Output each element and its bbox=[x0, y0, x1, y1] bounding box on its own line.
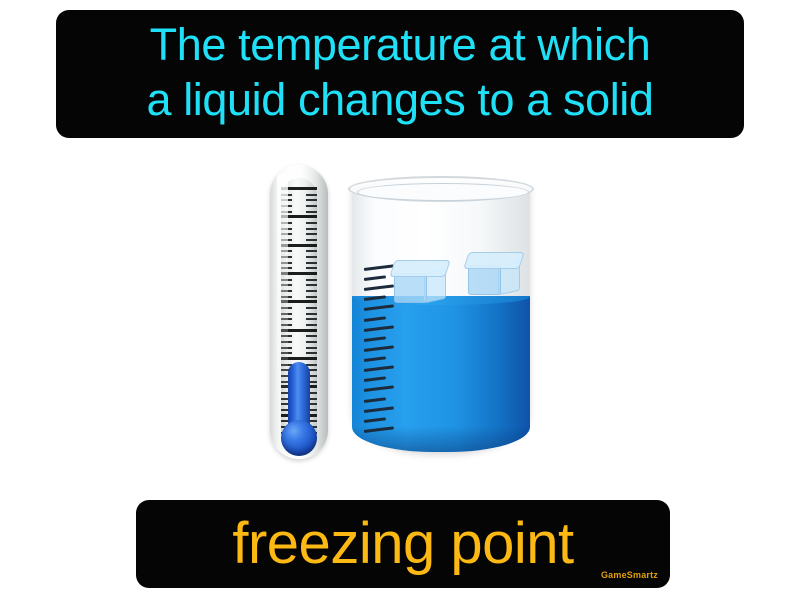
thermometer-minor-tick bbox=[281, 347, 292, 349]
thermometer-major-tick bbox=[281, 187, 317, 190]
thermometer-minor-tick bbox=[281, 307, 292, 309]
thermometer-minor-tick bbox=[281, 194, 292, 196]
thermometer-minor-tick bbox=[281, 341, 292, 343]
thermometer-minor-tick bbox=[281, 239, 292, 241]
thermometer-minor-tick bbox=[281, 233, 292, 235]
thermometer-minor-tick bbox=[281, 262, 292, 264]
thermometer-minor-tick bbox=[281, 318, 292, 320]
definition-card: The temperature at which a liquid change… bbox=[56, 10, 744, 138]
thermometer-minor-tick bbox=[281, 199, 292, 201]
thermometer-minor-tick bbox=[306, 228, 317, 230]
thermometer-major-tick bbox=[281, 357, 317, 360]
thermometer-minor-tick bbox=[306, 318, 317, 320]
thermometer-major-tick bbox=[281, 300, 317, 303]
thermometer-minor-tick bbox=[306, 335, 317, 337]
thermometer-minor-tick bbox=[281, 284, 292, 286]
thermometer-minor-tick bbox=[306, 199, 317, 201]
definition-line-1: The temperature at which bbox=[150, 17, 651, 72]
beaker-graduation-mark bbox=[364, 385, 394, 392]
thermometer-major-tick bbox=[281, 244, 317, 247]
thermometer-minor-tick bbox=[306, 239, 317, 241]
beaker-graduation-mark bbox=[364, 284, 394, 291]
ice-cube-front-face bbox=[394, 273, 427, 303]
slide-canvas: The temperature at which a liquid change… bbox=[0, 0, 800, 600]
thermometer-minor-tick bbox=[281, 228, 292, 230]
beaker-graduation-mark bbox=[364, 376, 386, 382]
thermometer-minor-tick bbox=[281, 335, 292, 337]
thermometer-minor-tick bbox=[306, 262, 317, 264]
thermometer-minor-tick bbox=[306, 284, 317, 286]
thermometer-bulb bbox=[281, 420, 317, 456]
thermometer-minor-tick bbox=[306, 307, 317, 309]
thermometer-major-tick bbox=[281, 215, 317, 218]
thermometer-minor-tick bbox=[281, 222, 292, 224]
thermometer-minor-tick bbox=[281, 290, 292, 292]
thermometer-minor-tick bbox=[281, 256, 292, 258]
thermometer-minor-tick bbox=[306, 205, 317, 207]
beaker-graduation-mark bbox=[364, 275, 386, 281]
thermometer-minor-tick bbox=[306, 211, 317, 213]
beaker-graduation-mark bbox=[364, 406, 394, 413]
term-card: freezing point GameSmartz bbox=[136, 500, 670, 588]
thermometer-minor-tick bbox=[306, 267, 317, 269]
beaker-graduation-mark bbox=[364, 316, 386, 322]
thermometer-minor-tick bbox=[281, 352, 292, 354]
thermometer-icon bbox=[264, 165, 338, 460]
beaker-graduation-mark bbox=[364, 417, 386, 423]
thermometer-minor-tick bbox=[306, 347, 317, 349]
thermometer-minor-tick bbox=[281, 296, 292, 298]
beaker-graduation-mark bbox=[364, 325, 394, 332]
ice-cube-front-face bbox=[468, 265, 501, 295]
beaker-rim-inner-ellipse bbox=[357, 183, 529, 201]
thermometer-minor-tick bbox=[306, 313, 317, 315]
ice-cube-top-face bbox=[463, 252, 525, 269]
thermometer-minor-tick bbox=[281, 267, 292, 269]
beaker-graduation-mark bbox=[364, 304, 394, 311]
term-label: freezing point bbox=[232, 513, 573, 575]
thermometer-minor-tick bbox=[281, 324, 292, 326]
thermometer-major-tick bbox=[281, 272, 317, 275]
thermometer-minor-tick bbox=[306, 222, 317, 224]
thermometer-minor-tick bbox=[306, 352, 317, 354]
thermometer-minor-tick bbox=[306, 279, 317, 281]
watermark-label: GameSmartz bbox=[601, 570, 658, 580]
ice-cube-top-face bbox=[389, 260, 451, 277]
thermometer-minor-tick bbox=[281, 205, 292, 207]
beaker-graduation-mark bbox=[364, 365, 394, 372]
illustration-area bbox=[0, 150, 800, 490]
thermometer-minor-tick bbox=[281, 279, 292, 281]
thermometer-minor-tick bbox=[281, 250, 292, 252]
thermometer-major-tick bbox=[281, 329, 317, 332]
thermometer-minor-tick bbox=[306, 290, 317, 292]
beaker-icon bbox=[348, 176, 534, 458]
thermometer-minor-tick bbox=[306, 233, 317, 235]
ice-cube-icon bbox=[466, 252, 522, 296]
thermometer-minor-tick bbox=[306, 324, 317, 326]
thermometer-minor-tick bbox=[306, 296, 317, 298]
thermometer-minor-tick bbox=[306, 256, 317, 258]
beaker-rim bbox=[348, 176, 534, 202]
thermometer-minor-tick bbox=[306, 250, 317, 252]
thermometer-minor-tick bbox=[306, 341, 317, 343]
beaker-graduation-mark bbox=[364, 426, 394, 433]
beaker-graduation-mark bbox=[364, 336, 386, 342]
thermometer-minor-tick bbox=[306, 194, 317, 196]
beaker-graduation-mark bbox=[364, 356, 386, 362]
thermometer-minor-tick bbox=[281, 211, 292, 213]
ice-cube-icon bbox=[392, 260, 448, 304]
beaker-graduation-mark bbox=[364, 295, 386, 301]
beaker-graduation-mark bbox=[364, 397, 386, 403]
thermometer-minor-tick bbox=[281, 313, 292, 315]
beaker-graduation-mark bbox=[364, 345, 394, 352]
definition-line-2: a liquid changes to a solid bbox=[146, 72, 653, 127]
